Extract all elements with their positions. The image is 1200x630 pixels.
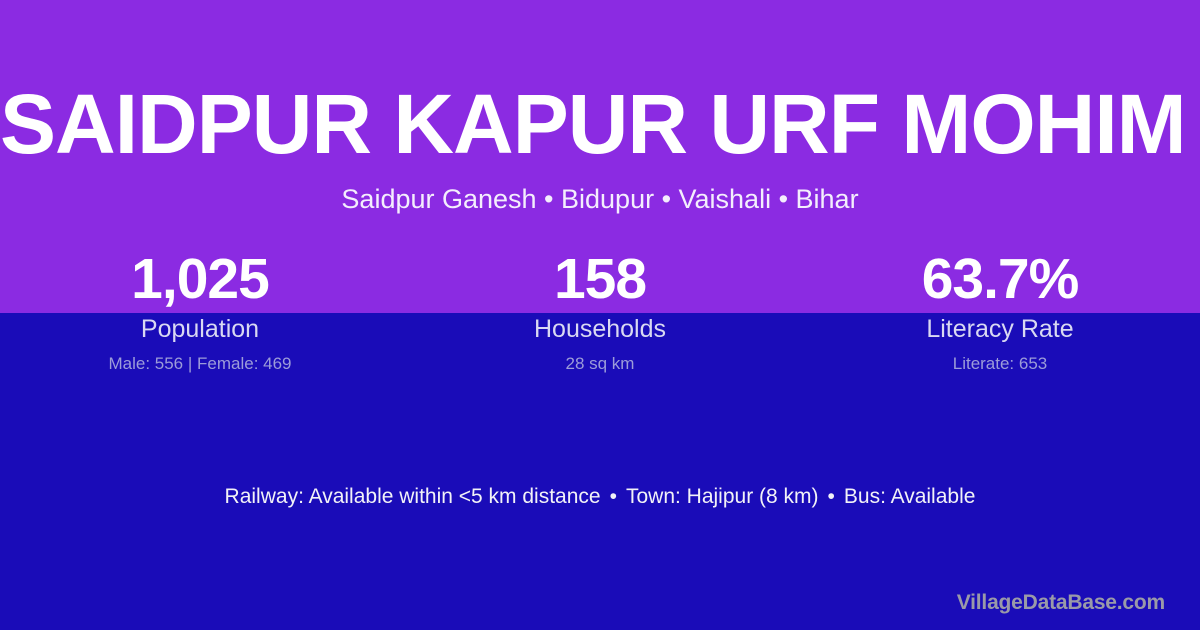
amenity-separator: • bbox=[819, 485, 844, 508]
stat-value: 63.7% bbox=[800, 246, 1200, 312]
stat-detail: 28 sq km bbox=[400, 353, 800, 374]
breadcrumb: Saidpur Ganesh • Bidupur • Vaishali • Bi… bbox=[0, 182, 1200, 216]
amenity-separator: • bbox=[601, 485, 626, 508]
stat-label: Households bbox=[400, 314, 800, 344]
stat-detail: Male: 556 | Female: 469 bbox=[0, 353, 400, 374]
site-brand: VillageDataBase.com bbox=[957, 589, 1165, 617]
stat-population: 1,025 Population Male: 556 | Female: 469 bbox=[0, 246, 400, 374]
village-info-card: SAIDPUR KAPUR URF MOHIM CHAK Saidpur Gan… bbox=[0, 0, 1200, 630]
stat-literacy-rate: 63.7% Literacy Rate Literate: 653 bbox=[800, 246, 1200, 374]
amenity-railway: Railway: Available within <5 km distance bbox=[225, 485, 601, 508]
amenity-town: Town: Hajipur (8 km) bbox=[626, 485, 819, 508]
amenities-line: Railway: Available within <5 km distance… bbox=[0, 483, 1200, 511]
stat-value: 1,025 bbox=[0, 246, 400, 312]
stat-detail: Literate: 653 bbox=[800, 353, 1200, 374]
stat-value: 158 bbox=[400, 246, 800, 312]
stat-label: Population bbox=[0, 314, 400, 344]
stat-label: Literacy Rate bbox=[800, 314, 1200, 344]
stat-households: 158 Households 28 sq km bbox=[400, 246, 800, 374]
page-title: SAIDPUR KAPUR URF MOHIM CHAK bbox=[0, 76, 1200, 172]
stats-row: 1,025 Population Male: 556 | Female: 469… bbox=[0, 246, 1200, 374]
amenity-bus: Bus: Available bbox=[844, 485, 976, 508]
